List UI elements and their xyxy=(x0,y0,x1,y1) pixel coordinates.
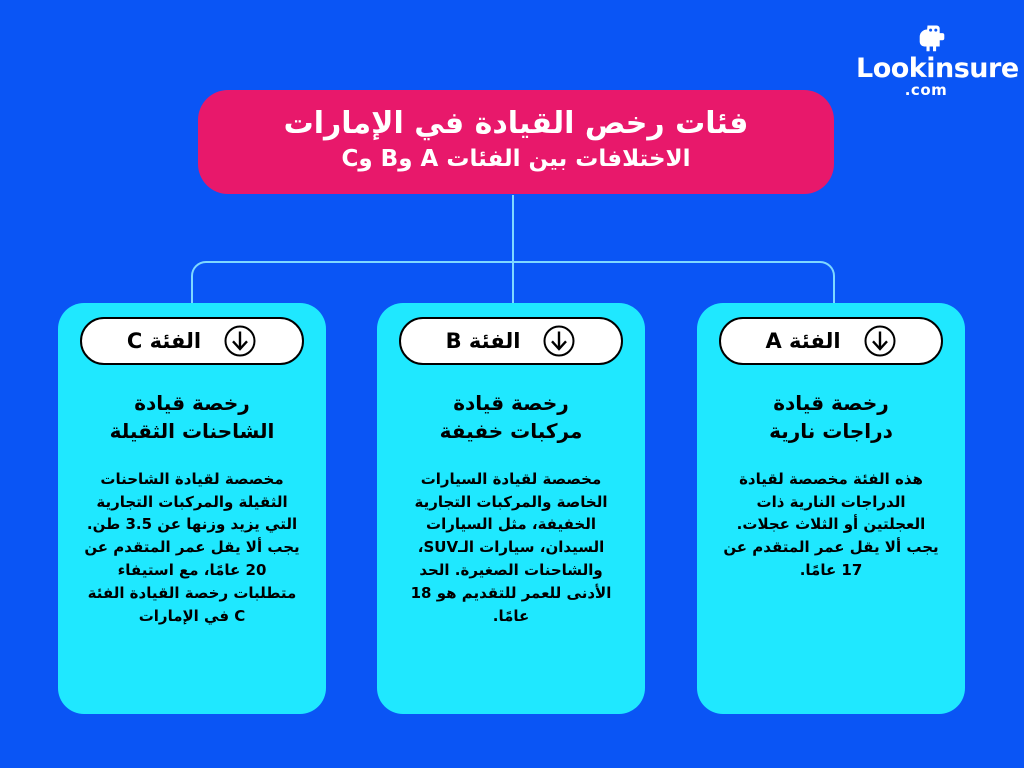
arrow-down-circle-icon xyxy=(223,324,257,358)
category-body-c: مخصصة لقيادة الشاحنات الثقيلة والمركبات … xyxy=(70,468,314,628)
category-heading-b: رخصة قيادةمركبات خفيفة xyxy=(389,389,633,446)
category-pill-label-a: الفئة A xyxy=(765,331,840,352)
category-body-a: هذه الفئة مخصصة لقيادة الدراجات النارية … xyxy=(709,468,953,582)
brand-logo: Lookinsure .com xyxy=(856,22,1008,98)
logo-domain: .com xyxy=(856,82,1008,98)
category-pill-c[interactable]: الفئة C xyxy=(80,317,304,365)
page-subtitle: الاختلافات بين الفئات A وB وC xyxy=(341,145,690,175)
category-pill-a[interactable]: الفئة A xyxy=(719,317,943,365)
category-card-b[interactable]: الفئة B رخصة قيادةمركبات خفيفة مخصصة لقي… xyxy=(377,303,645,714)
category-heading-a: رخصة قيادةدراجات نارية xyxy=(709,389,953,446)
category-body-b: مخصصة لقيادة السيارات الخاصة والمركبات ا… xyxy=(389,468,633,628)
arrow-down-circle-icon xyxy=(863,324,897,358)
category-heading-c: رخصة قيادةالشاحنات الثقيلة xyxy=(70,389,314,446)
lookinsure-mascot-icon xyxy=(856,22,1008,52)
category-card-c[interactable]: الفئة C رخصة قيادةالشاحنات الثقيلة مخصصة… xyxy=(58,303,326,714)
category-pill-b[interactable]: الفئة B xyxy=(399,317,623,365)
title-card: فئات رخص القيادة في الإمارات الاختلافات … xyxy=(198,90,834,194)
infographic-canvas: Lookinsure .com فئات رخص القيادة في الإم… xyxy=(0,0,1024,768)
logo-wordmark: Lookinsure xyxy=(856,54,1008,84)
category-pill-label-b: الفئة B xyxy=(446,331,521,352)
arrow-down-circle-icon xyxy=(542,324,576,358)
category-card-a[interactable]: الفئة A رخصة قيادةدراجات نارية هذه الفئة… xyxy=(697,303,965,714)
page-title: فئات رخص القيادة في الإمارات xyxy=(284,105,749,143)
category-pill-label-c: الفئة C xyxy=(127,331,201,352)
